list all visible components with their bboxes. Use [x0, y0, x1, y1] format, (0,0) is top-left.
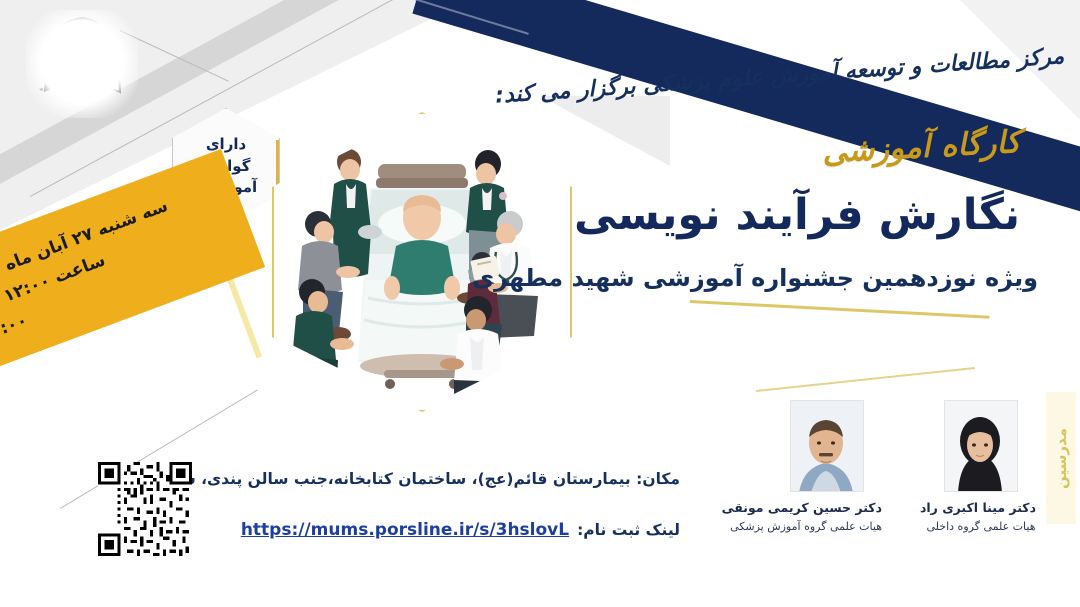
instructor-role: هیات علمی گروه آموزش پزشکی [772, 519, 882, 534]
instructors-list: دکتر مینا اکبری راد هیات علمی گروه داخلی… [726, 400, 1036, 600]
gold-divider [690, 300, 990, 318]
instructors-tab: مدرسین [1046, 392, 1076, 524]
gold-divider-secondary [756, 367, 975, 392]
registration-row: لینک ثبت نام: https://mums.porsline.ir/s… [241, 520, 680, 540]
qr-code-icon[interactable] [98, 462, 192, 556]
logo-glow [26, 10, 138, 118]
poster-canvas: مرکز مطالعات و توسعه آموزش علوم پزشکی مش… [0, 0, 1080, 607]
venue-text: مکان: بیمارستان قائم(عج)، ساختمان کتابخا… [110, 470, 680, 488]
female-presenter-photo [944, 400, 1018, 492]
instructor-name: دکتر مینا اکبری راد [926, 500, 1036, 517]
instructor-name: دکتر حسین کریمی مونقی [772, 500, 882, 517]
date-banner-line-3: ۱۴:۰۰ [0, 310, 30, 346]
qr-code-graphic [98, 462, 192, 556]
hospital-rounds-scene-icon [272, 112, 572, 412]
instructor-card: دکتر حسین کریمی مونقی هیات علمی گروه آمو… [772, 400, 882, 600]
registration-label: لینک ثبت نام: [577, 521, 680, 539]
registration-link[interactable]: https://mums.porsline.ir/s/3hslovL [241, 520, 569, 540]
instructors-tab-label: مدرسین [1052, 428, 1070, 489]
avatar [944, 401, 1017, 492]
page-subtitle: ویژه نوزدهمین جشنواره آموزشی شهید مطهری [472, 264, 1038, 292]
page-title: نگارش فرآیند نویسی [574, 190, 1020, 240]
hospital-rounds-illustration [272, 112, 572, 412]
certificate-badge-line-1: دارای [206, 136, 246, 153]
male-presenter-photo [790, 400, 864, 492]
instructor-card: دکتر مینا اکبری راد هیات علمی گروه داخلی [926, 400, 1036, 600]
avatar [790, 401, 863, 492]
instructor-role: هیات علمی گروه داخلی [926, 519, 1036, 534]
organization-logo: مرکز مطالعات و توسعه آموزش علوم پزشکی مش… [22, 8, 142, 120]
